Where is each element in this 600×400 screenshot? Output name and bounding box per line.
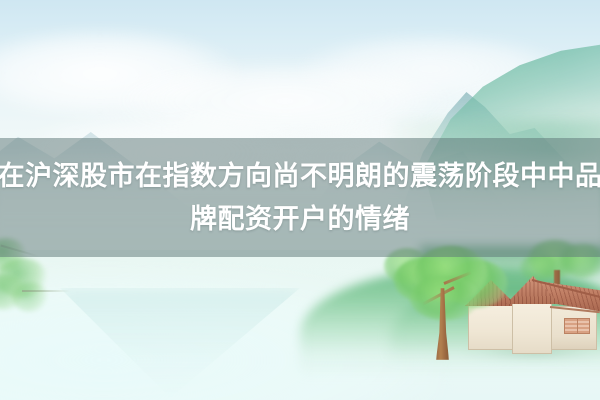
house-rear-wall xyxy=(468,302,516,350)
cottage-house xyxy=(468,276,600,364)
house-front-wall xyxy=(512,300,552,354)
landscape-banner-image: 在沪深股市在指数方向尚不明朗的震荡阶段中中品 牌配资开户的情绪 xyxy=(0,0,600,400)
window-mullion xyxy=(577,319,578,333)
house-window xyxy=(564,318,590,334)
caption-line-1: 在沪深股市在指数方向尚不明朗的震荡阶段中中品 xyxy=(0,155,600,198)
caption-line-2: 牌配资开户的情绪 xyxy=(190,198,410,241)
caption-overlay-band: 在沪深股市在指数方向尚不明朗的震荡阶段中中品 牌配资开户的情绪 xyxy=(0,138,600,257)
